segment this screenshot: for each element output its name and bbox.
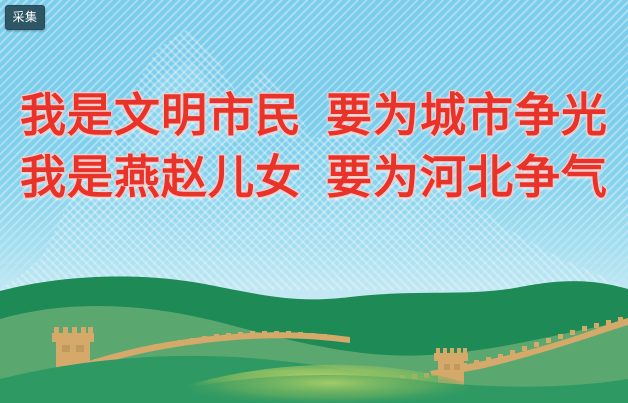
slogan-line-1-left: 我是文明市民 — [20, 88, 302, 142]
hills-illustration — [0, 263, 628, 403]
slogan-line-1: 我是文明市民要为城市争光 — [0, 92, 628, 138]
slogan-line-2-right: 要为河北争气 — [326, 150, 608, 204]
capture-button[interactable]: 采集 — [5, 5, 45, 30]
slogan-line-2-left: 我是燕赵儿女 — [20, 150, 302, 204]
slogan-line-2: 我是燕赵儿女要为河北争气 — [0, 154, 628, 200]
slogan-block: 我是文明市民要为城市争光 我是燕赵儿女要为河北争气 — [0, 92, 628, 216]
banner-screenshot: 我是文明市民要为城市争光 我是燕赵儿女要为河北争气 采集 — [0, 0, 628, 403]
slogan-line-1-right: 要为城市争光 — [326, 88, 608, 142]
